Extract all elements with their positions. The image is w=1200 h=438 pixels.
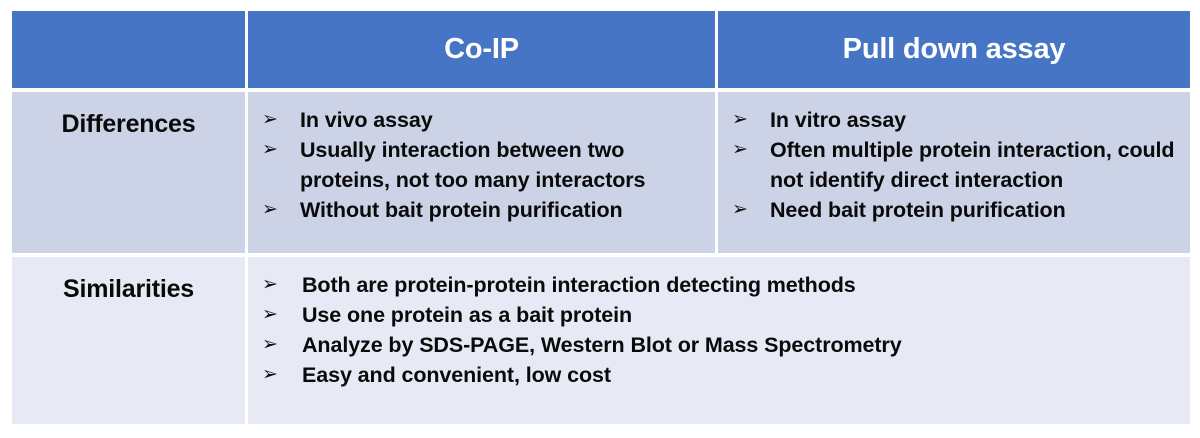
table-row-differences: Differences ➢ In vivo assay ➢ Usually in… xyxy=(12,92,1190,253)
list-item: ➢ In vitro assay xyxy=(730,105,1180,135)
arrowhead-bullet-icon: ➢ xyxy=(260,330,302,360)
arrowhead-bullet-icon: ➢ xyxy=(260,195,300,225)
list-item-label: Easy and convenient, low cost xyxy=(302,360,1180,390)
list-item: ➢ Use one protein as a bait protein xyxy=(260,300,1180,330)
arrowhead-bullet-icon: ➢ xyxy=(260,270,302,300)
cell-differences-co-ip: ➢ In vivo assay ➢ Usually interaction be… xyxy=(248,92,715,253)
bullet-list-similarities: ➢ Both are protein-protein interaction d… xyxy=(248,257,1190,390)
arrowhead-bullet-icon: ➢ xyxy=(260,360,302,390)
list-item-label: Analyze by SDS-PAGE, Western Blot or Mas… xyxy=(302,330,1180,360)
list-item: ➢ Easy and convenient, low cost xyxy=(260,360,1180,390)
list-item-label: In vivo assay xyxy=(300,105,705,135)
table-header-row: Co-IP Pull down assay xyxy=(12,11,1190,88)
arrowhead-bullet-icon: ➢ xyxy=(730,195,770,225)
header-cell-co-ip: Co-IP xyxy=(248,11,715,88)
bullet-list-differences-pull-down-assay: ➢ In vitro assay ➢ Often multiple protei… xyxy=(718,92,1190,225)
header-corner-cell xyxy=(12,11,245,88)
bullet-list-differences-co-ip: ➢ In vivo assay ➢ Usually interaction be… xyxy=(248,92,715,225)
list-item: ➢ In vivo assay xyxy=(260,105,705,135)
list-item: ➢ Usually interaction between two protei… xyxy=(260,135,705,195)
row-label-similarities: Similarities xyxy=(12,257,245,304)
header-label-pull-down-assay: Pull down assay xyxy=(718,11,1190,88)
cell-differences-pull-down-assay: ➢ In vitro assay ➢ Often multiple protei… xyxy=(718,92,1190,253)
list-item-label: Both are protein-protein interaction det… xyxy=(302,270,1180,300)
arrowhead-bullet-icon: ➢ xyxy=(260,105,300,135)
row-label-cell-differences: Differences xyxy=(12,92,245,253)
list-item: ➢ Need bait protein purification xyxy=(730,195,1180,225)
list-item-label: Without bait protein purification xyxy=(300,195,705,225)
cell-similarities-merged: ➢ Both are protein-protein interaction d… xyxy=(248,257,1190,424)
list-item-label: Need bait protein purification xyxy=(770,195,1180,225)
list-item: ➢ Analyze by SDS-PAGE, Western Blot or M… xyxy=(260,330,1180,360)
row-label-differences: Differences xyxy=(12,92,245,139)
arrowhead-bullet-icon: ➢ xyxy=(730,105,770,135)
arrowhead-bullet-icon: ➢ xyxy=(260,300,302,330)
table-row-similarities: Similarities ➢ Both are protein-protein … xyxy=(12,257,1190,424)
header-cell-pull-down-assay: Pull down assay xyxy=(718,11,1190,88)
list-item: ➢ Without bait protein purification xyxy=(260,195,705,225)
arrowhead-bullet-icon: ➢ xyxy=(260,135,300,165)
list-item: ➢ Often multiple protein interaction, co… xyxy=(730,135,1180,195)
list-item-label: In vitro assay xyxy=(770,105,1180,135)
arrowhead-bullet-icon: ➢ xyxy=(730,135,770,165)
comparison-table: Co-IP Pull down assay Differences ➢ In v… xyxy=(12,11,1190,424)
header-label-co-ip: Co-IP xyxy=(248,11,715,88)
list-item: ➢ Both are protein-protein interaction d… xyxy=(260,270,1180,300)
list-item-label: Use one protein as a bait protein xyxy=(302,300,1180,330)
list-item-label: Usually interaction between two proteins… xyxy=(300,135,705,195)
row-label-cell-similarities: Similarities xyxy=(12,257,245,424)
list-item-label: Often multiple protein interaction, coul… xyxy=(770,135,1180,195)
